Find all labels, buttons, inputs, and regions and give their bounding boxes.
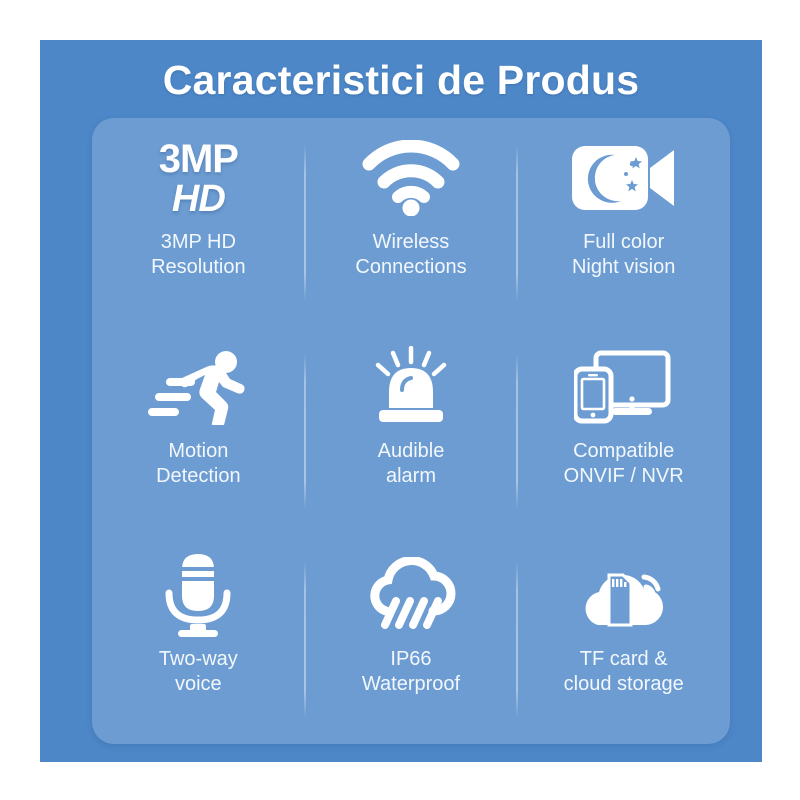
features-card: 3MP HD 3MP HD Resolution — [92, 118, 730, 744]
infographic-root: Caracteristici de Produs — [0, 0, 800, 800]
page-title: Caracteristici de Produs — [40, 54, 762, 106]
feature-label: Compatible ONVIF / NVR — [564, 439, 684, 489]
feature-label: Two-way voice — [159, 647, 238, 697]
feature-item-audible-alarm: Audible alarm — [305, 327, 518, 536]
feature-label: Motion Detection — [156, 439, 241, 489]
siren-alarm-icon — [363, 341, 459, 433]
feature-panel: Caracteristici de Produs — [40, 40, 762, 762]
feature-label: TF card & cloud storage — [564, 647, 684, 697]
feature-label: Full color Night vision — [572, 230, 675, 280]
feature-item-motion-detection: Motion Detection — [92, 327, 305, 536]
feature-item-compatible-onvif-nvr: Compatible ONVIF / NVR — [517, 327, 730, 536]
microphone-icon — [160, 549, 236, 641]
feature-item-3mp-hd-resolution: 3MP HD 3MP HD Resolution — [92, 118, 305, 327]
feature-label: 3MP HD Resolution — [151, 230, 246, 280]
feature-label: IP66 Waterproof — [362, 647, 460, 697]
hd-logo-bottom-text: HD — [159, 180, 238, 218]
cloud-sd-card-icon — [572, 549, 676, 641]
rain-cloud-icon — [362, 549, 460, 641]
feature-item-ip66-waterproof: IP66 Waterproof — [305, 535, 518, 744]
feature-label: Wireless Connections — [355, 230, 466, 280]
monitor-phone-devices-icon — [574, 341, 674, 433]
feature-item-wireless-connections: Wireless Connections — [305, 118, 518, 327]
features-grid: 3MP HD 3MP HD Resolution — [92, 118, 730, 744]
feature-item-tf-card-cloud-storage: TF card & cloud storage — [517, 535, 730, 744]
running-person-motion-icon — [146, 341, 250, 433]
feature-item-full-color-night-vision: Full color Night vision — [517, 118, 730, 327]
feature-item-two-way-voice: Two-way voice — [92, 535, 305, 744]
wifi-icon — [361, 132, 461, 224]
night-vision-camera-icon — [570, 132, 678, 224]
3mp-logo-top-text: 3MP — [159, 139, 238, 179]
feature-label: Audible alarm — [378, 439, 445, 489]
3mp-hd-logo-icon: 3MP HD — [159, 132, 238, 224]
